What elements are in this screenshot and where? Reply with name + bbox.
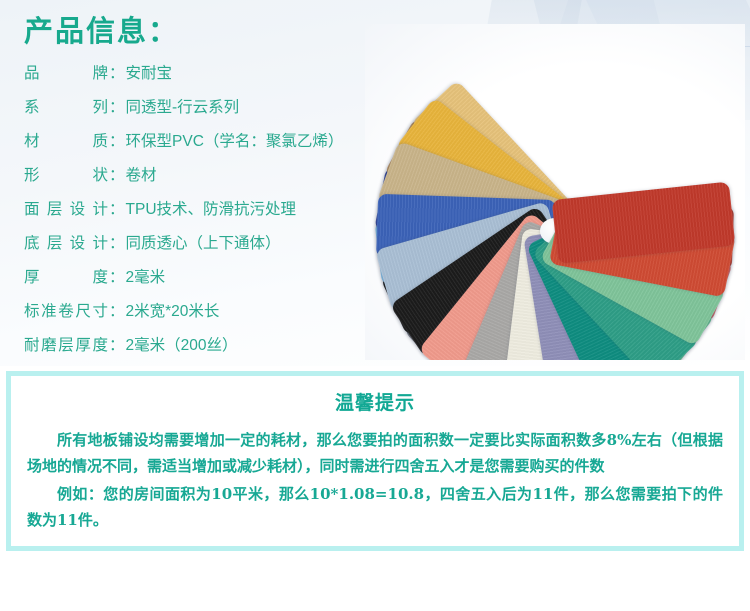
spec-row: 形状：卷材 <box>24 159 374 193</box>
spec-label: 形状 <box>24 159 108 193</box>
spec-colon: ： <box>109 295 125 329</box>
color-swatch-photo <box>365 24 745 360</box>
spec-colon: ： <box>109 261 125 295</box>
spec-row: 标准卷尺寸：2米宽*20米长 <box>24 295 374 329</box>
spec-row: 厚度：2毫米 <box>24 261 374 295</box>
spec-label: 面层设计 <box>24 193 108 227</box>
spec-row: 面层设计：TPU技术、防滑抗污处理 <box>24 193 374 227</box>
spec-label: 系列 <box>24 91 108 125</box>
tips-body: 所有地板铺设均需要增加一定的耗材，那么您要拍的面积数一定要比实际面积数多8%左右… <box>27 427 723 533</box>
spec-value: 2毫米（200丝） <box>126 329 238 363</box>
spec-value: 同透型-行云系列 <box>126 91 240 125</box>
spec-value: 卷材 <box>126 159 157 193</box>
spec-value: 2米宽*20米长 <box>126 295 220 329</box>
spec-value: 同质透心（上下通体） <box>126 227 281 261</box>
spec-label: 品牌 <box>24 57 108 91</box>
spec-row: 耐磨层厚度：2毫米（200丝） <box>24 329 374 363</box>
spec-label: 标准卷尺寸 <box>24 295 108 329</box>
spec-row: 材质：环保型PVC（学名：聚氯乙烯） <box>24 125 374 159</box>
spec-colon: ： <box>109 329 125 363</box>
tips-box: 温馨提示 所有地板铺设均需要增加一定的耗材，那么您要拍的面积数一定要比实际面积数… <box>6 371 744 551</box>
spec-list: 品牌：安耐宝系列：同透型-行云系列材质：环保型PVC（学名：聚氯乙烯）形状：卷材… <box>24 57 374 363</box>
spec-row: 品牌：安耐宝 <box>24 57 374 91</box>
bottom-whitespace <box>0 556 750 611</box>
product-info-panel: 产品信息： 品牌：安耐宝系列：同透型-行云系列材质：环保型PVC（学名：聚氯乙烯… <box>0 0 750 366</box>
tips-paragraph-2: 例如：您的房间面积为10平米，那么10*1.08=10.8，四舍五入后为11件，… <box>27 481 723 533</box>
spec-row: 系列：同透型-行云系列 <box>24 91 374 125</box>
spec-colon: ： <box>109 159 125 193</box>
spec-row: 底层设计：同质透心（上下通体） <box>24 227 374 261</box>
spec-label: 耐磨层厚度 <box>24 329 108 363</box>
spec-value: TPU技术、防滑抗污处理 <box>126 193 297 227</box>
spec-label: 材质 <box>24 125 108 159</box>
spec-colon: ： <box>109 57 125 91</box>
spec-value: 2毫米 <box>126 261 166 295</box>
spec-colon: ： <box>109 125 125 159</box>
product-info-page: 产品信息： 品牌：安耐宝系列：同透型-行云系列材质：环保型PVC（学名：聚氯乙烯… <box>0 0 750 611</box>
tips-paragraph-1: 所有地板铺设均需要增加一定的耗材，那么您要拍的面积数一定要比实际面积数多8%左右… <box>27 427 723 479</box>
spec-value: 安耐宝 <box>126 57 173 91</box>
spec-label: 底层设计 <box>24 227 108 261</box>
spec-label: 厚度 <box>24 261 108 295</box>
tips-heading: 温馨提示 <box>11 388 739 415</box>
spec-value: 环保型PVC（学名：聚氯乙烯） <box>126 125 344 159</box>
spec-colon: ： <box>109 227 125 261</box>
spec-colon: ： <box>109 193 125 227</box>
spec-colon: ： <box>109 91 125 125</box>
page-title: 产品信息： <box>24 8 179 50</box>
